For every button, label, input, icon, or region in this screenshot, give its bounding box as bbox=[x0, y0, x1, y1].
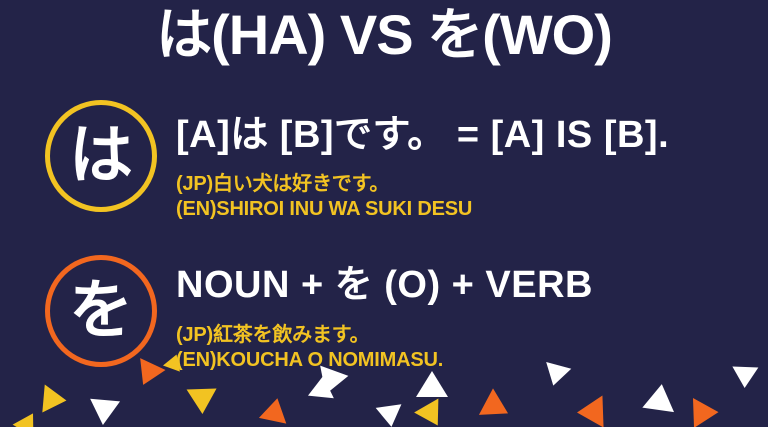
confetti-triangle bbox=[376, 404, 405, 427]
confetti-triangle bbox=[479, 388, 515, 426]
particle-badge-ha: は bbox=[45, 100, 157, 212]
confetti-triangle bbox=[693, 397, 719, 427]
page-title: は(HA) VS を(WO) bbox=[0, 2, 768, 68]
grammar-row-wo: を NOUN + を (O) + VERB (JP)紅茶を飲みます。 (EN)K… bbox=[0, 252, 768, 377]
particle-badge-char: は bbox=[69, 123, 133, 187]
confetti-triangle bbox=[308, 375, 336, 399]
example-japanese-ha: (JP)白い犬は好きです。 bbox=[176, 160, 760, 197]
particle-badge-char: を bbox=[69, 278, 133, 342]
grammar-row-body: NOUN + を (O) + VERB (JP)紅茶を飲みます。 (EN)KOU… bbox=[176, 252, 760, 373]
pattern-formula-wo: NOUN + を (O) + VERB bbox=[176, 252, 760, 310]
confetti-triangle bbox=[259, 395, 291, 423]
confetti-triangle bbox=[576, 396, 603, 427]
confetti-triangle bbox=[42, 385, 67, 415]
example-romaji-wo: (EN)KOUCHA O NOMIMASU. bbox=[176, 348, 760, 373]
infographic-canvas: は(HA) VS を(WO) は [A]は [B]です。 = [A] IS [B… bbox=[0, 0, 768, 427]
pattern-formula-ha: [A]は [B]です。 = [A] IS [B]. bbox=[176, 97, 760, 160]
example-japanese-wo: (JP)紅茶を飲みます。 bbox=[176, 310, 760, 348]
example-romaji-ha: (EN)SHIROI INU WA SUKI DESU bbox=[176, 197, 760, 222]
confetti-triangle bbox=[13, 407, 44, 427]
grammar-row-ha: は [A]は [B]です。 = [A] IS [B]. (JP)白い犬は好きです… bbox=[0, 97, 768, 222]
grammar-row-body: [A]は [B]です。 = [A] IS [B]. (JP)白い犬は好きです。 … bbox=[176, 97, 760, 222]
confetti-triangle bbox=[642, 382, 677, 412]
particle-badge-wo: を bbox=[45, 255, 157, 367]
confetti-triangle bbox=[414, 399, 450, 427]
confetti-triangle bbox=[187, 388, 218, 414]
confetti-triangle bbox=[88, 399, 120, 427]
